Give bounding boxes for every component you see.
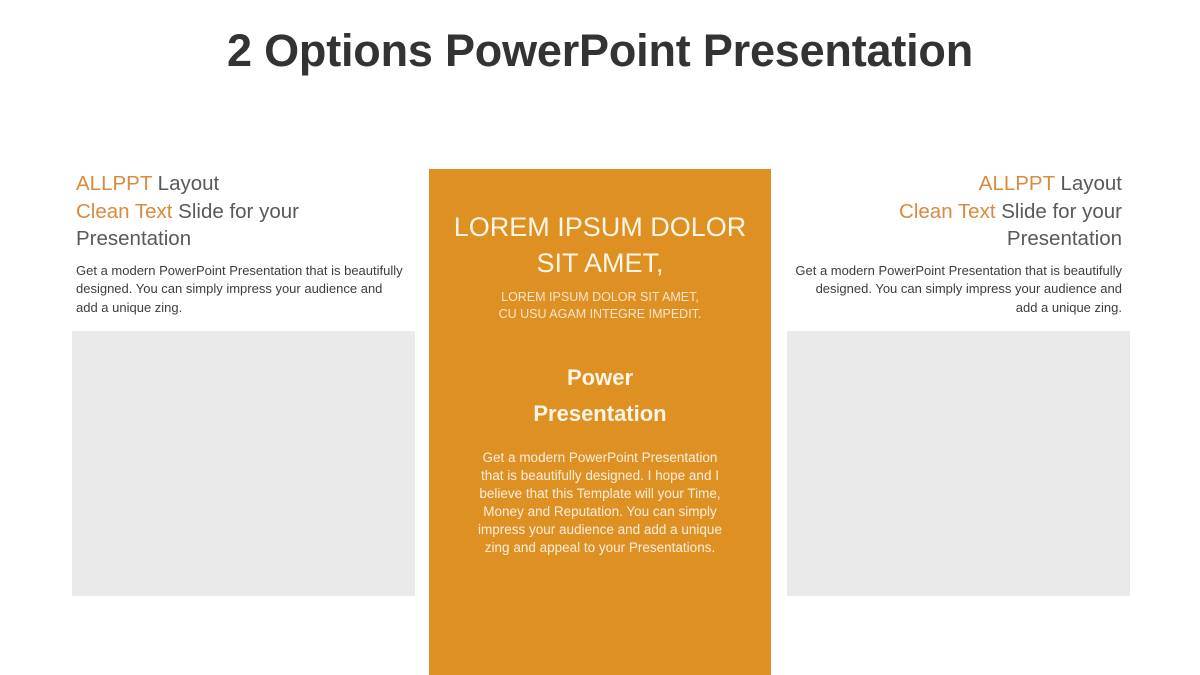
right-heading-line3: Presentation (1007, 227, 1122, 250)
left-heading-line3: Presentation (76, 227, 191, 250)
right-heading-accent-allppt: ALLPPT (979, 172, 1055, 195)
center-panel-heading-line2: Presentation (533, 401, 666, 426)
right-heading-rest-slide: Slide for your (996, 200, 1122, 223)
right-heading-accent-clean-text: Clean Text (899, 200, 995, 223)
center-panel-title: LOREM IPSUM DOLOR SIT AMET, (445, 209, 755, 281)
left-image-placeholder (72, 331, 415, 596)
center-panel-heading-line1: Power (567, 365, 633, 390)
left-option-body-text: Get a modern PowerPoint Presentation tha… (76, 262, 406, 318)
center-orange-panel: LOREM IPSUM DOLOR SIT AMET, LOREM IPSUM … (429, 169, 771, 675)
left-option-heading: ALLPPT Layout Clean Text Slide for your … (76, 170, 406, 253)
left-heading-accent-allppt: ALLPPT (76, 172, 152, 195)
right-option-text-block: ALLPPT Layout Clean Text Slide for your … (792, 170, 1122, 317)
right-option-heading: ALLPPT Layout Clean Text Slide for your … (792, 170, 1122, 253)
left-heading-accent-clean-text: Clean Text (76, 200, 172, 223)
right-option-body-text: Get a modern PowerPoint Presentation tha… (792, 262, 1122, 318)
page-title: 2 Options PowerPoint Presentation (0, 22, 1200, 80)
left-option-text-block: ALLPPT Layout Clean Text Slide for your … (76, 170, 406, 317)
center-panel-heading: Power Presentation (445, 360, 755, 432)
center-panel-subtitle: LOREM IPSUM DOLOR SIT AMET, CU USU AGAM … (445, 289, 755, 322)
right-image-placeholder (787, 331, 1130, 596)
slide-canvas: 2 Options PowerPoint Presentation ALLPPT… (0, 0, 1200, 675)
center-panel-subtitle-line1: LOREM IPSUM DOLOR SIT AMET, (501, 290, 699, 304)
center-panel-subtitle-line2: CU USU AGAM INTEGRE IMPEDIT. (499, 307, 702, 321)
left-heading-rest-slide: Slide for your (172, 200, 298, 223)
right-heading-rest-layout: Layout (1055, 172, 1122, 195)
left-heading-rest-layout: Layout (152, 172, 219, 195)
center-panel-body-text: Get a modern PowerPoint Presentation tha… (445, 449, 755, 557)
